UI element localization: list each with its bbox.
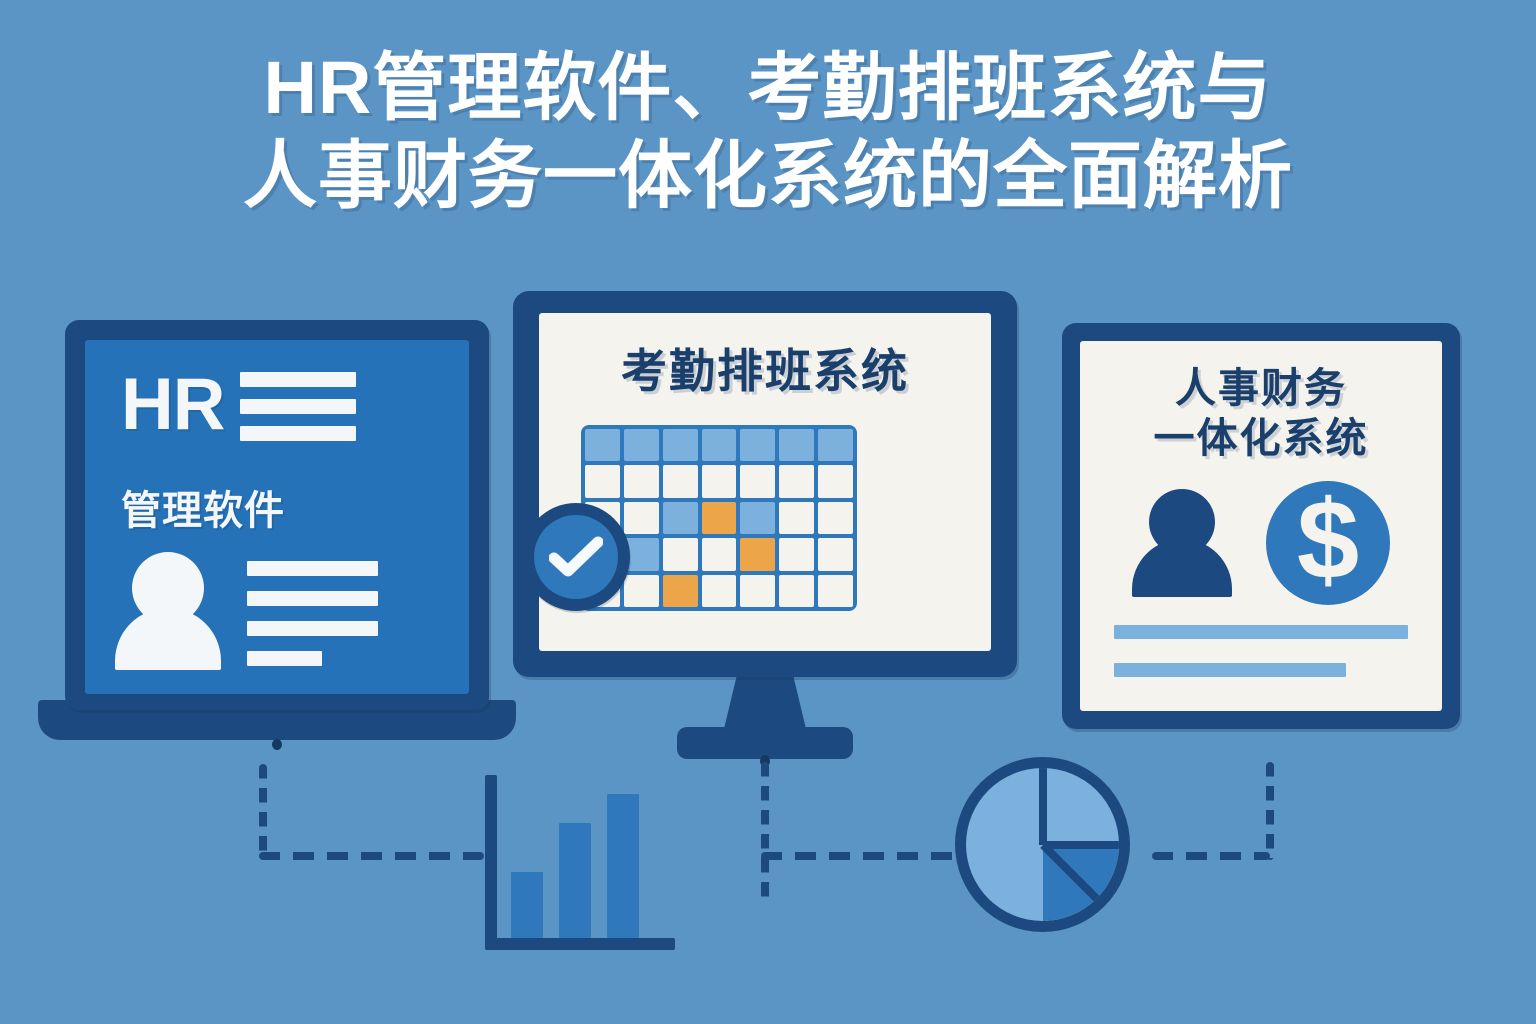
finance-title-line-2: 一体化系统 — [1080, 413, 1442, 463]
laptop-profile-block — [115, 552, 378, 670]
calendar-cell-r5-c7[interactable] — [818, 575, 853, 607]
monitor-title: 考勤排班系统 — [539, 335, 991, 401]
calendar-cell-r1-c5[interactable] — [740, 429, 775, 461]
laptop-to-bar-connector-vertical — [259, 764, 267, 860]
calendar-cell-r2-c3[interactable] — [663, 465, 698, 497]
calendar-cell-r2-c1[interactable] — [585, 465, 620, 497]
hr-header-bars — [240, 368, 356, 441]
finance-footer-bars — [1114, 601, 1408, 677]
dollar-icon: $ — [1266, 481, 1390, 605]
infographic-canvas: HR管理软件、考勤排班系统与 人事财务一体化系统的全面解析 HR 管理软件 — [0, 0, 1536, 1024]
calendar-cell-r1-c2[interactable] — [624, 429, 659, 461]
calendar-cell-r3-c3[interactable] — [663, 502, 698, 534]
footer-bar — [1114, 663, 1346, 677]
detail-line — [247, 621, 378, 636]
calendar-cell-r1-c3[interactable] — [663, 429, 698, 461]
detail-line — [247, 651, 322, 666]
calendar-cell-r5-c5[interactable] — [740, 575, 775, 607]
bar-1 — [511, 872, 543, 938]
title-line-2: 人事财务一体化系统的全面解析 — [0, 132, 1536, 220]
hr-heading: HR — [121, 368, 224, 441]
laptop-to-bar-connector-horizontal — [259, 852, 484, 860]
bar-chart-y-axis — [485, 775, 497, 950]
person-icon-body — [115, 608, 221, 670]
bar-chart-x-axis — [485, 938, 675, 950]
calendar-cell-r4-c4[interactable] — [702, 538, 737, 570]
calendar-cell-r3-c5[interactable] — [740, 502, 775, 534]
person-icon-body — [1132, 539, 1232, 597]
monitor-to-pie-connector-vertical — [761, 762, 769, 902]
check-circle-icon[interactable] — [522, 503, 630, 611]
pie-to-finance-connector-vertical — [1266, 762, 1274, 860]
calendar-cell-r2-c5[interactable] — [740, 465, 775, 497]
finance-card-title: 人事财务 一体化系统 — [1080, 363, 1442, 463]
hr-header-bar — [240, 399, 356, 414]
distribution-pie-chart — [955, 757, 1130, 932]
hr-header-bar — [240, 372, 356, 387]
laptop-notch — [272, 739, 282, 750]
pie-separator-horizontal — [1043, 841, 1120, 849]
calendar-cell-r2-c6[interactable] — [779, 465, 814, 497]
person-icon — [1132, 489, 1232, 597]
calendar-cell-r5-c3[interactable] — [663, 575, 698, 607]
hr-header-bar — [240, 426, 356, 441]
pie-to-finance-connector-horizontal — [1152, 852, 1270, 860]
calendar-cell-r1-c1[interactable] — [585, 429, 620, 461]
laptop-subtitle: 管理软件 — [121, 478, 285, 536]
calendar-cell-r4-c5[interactable] — [740, 538, 775, 570]
finance-icon-row: $ — [1080, 481, 1442, 605]
pie-separator-vertical — [1039, 768, 1047, 845]
monitor-neck — [723, 677, 807, 733]
calendar-cell-r2-c4[interactable] — [702, 465, 737, 497]
calendar-cell-r5-c6[interactable] — [779, 575, 814, 607]
calendar-cell-r1-c6[interactable] — [779, 429, 814, 461]
calendar-cell-r2-c7[interactable] — [818, 465, 853, 497]
panel-hr-software-laptop[interactable]: HR 管理软件 — [38, 320, 516, 750]
finance-card-frame: 人事财务 一体化系统 $ — [1062, 323, 1460, 729]
detail-line — [247, 591, 378, 606]
panel-attendance-monitor[interactable]: 考勤排班系统 — [513, 291, 1017, 753]
bar-3 — [607, 794, 639, 938]
hr-heading-row: HR — [121, 368, 356, 441]
check-circle-inner — [534, 515, 618, 599]
monitor-bezel: 考勤排班系统 — [513, 291, 1017, 677]
title-line-1: HR管理软件、考勤排班系统与 — [0, 44, 1536, 132]
pie-chart-face — [966, 768, 1119, 921]
laptop-detail-lines — [247, 561, 378, 670]
bar-2 — [559, 823, 591, 938]
page-title: HR管理软件、考勤排班系统与 人事财务一体化系统的全面解析 — [0, 44, 1536, 220]
footer-bar — [1114, 625, 1408, 639]
monitor-to-pie-connector-horizontal — [761, 852, 956, 860]
calendar-cell-r3-c6[interactable] — [779, 502, 814, 534]
calendar-cell-r4-c6[interactable] — [779, 538, 814, 570]
calendar-cell-r2-c2[interactable] — [624, 465, 659, 497]
finance-title-line-1: 人事财务 — [1080, 363, 1442, 413]
calendar-cell-r3-c4[interactable] — [702, 502, 737, 534]
calendar-cell-r3-c7[interactable] — [818, 502, 853, 534]
panel-hr-finance-card[interactable]: 人事财务 一体化系统 $ — [1062, 323, 1460, 729]
laptop-screen: HR 管理软件 — [85, 340, 469, 694]
bar-chart-bars — [511, 794, 639, 938]
calendar-cell-r4-c3[interactable] — [663, 538, 698, 570]
person-icon — [115, 552, 221, 670]
calendar-cell-r1-c4[interactable] — [702, 429, 737, 461]
calendar-cell-r1-c7[interactable] — [818, 429, 853, 461]
detail-line — [247, 561, 378, 576]
finance-card-inner: 人事财务 一体化系统 $ — [1080, 341, 1442, 711]
growth-bar-chart — [485, 775, 675, 950]
laptop-lid: HR 管理软件 — [65, 320, 489, 710]
calendar-cell-r5-c4[interactable] — [702, 575, 737, 607]
calendar-cell-r5-c2[interactable] — [624, 575, 659, 607]
calendar-cell-r3-c2[interactable] — [624, 502, 659, 534]
dollar-symbol: $ — [1297, 484, 1359, 596]
calendar-cell-r4-c7[interactable] — [818, 538, 853, 570]
